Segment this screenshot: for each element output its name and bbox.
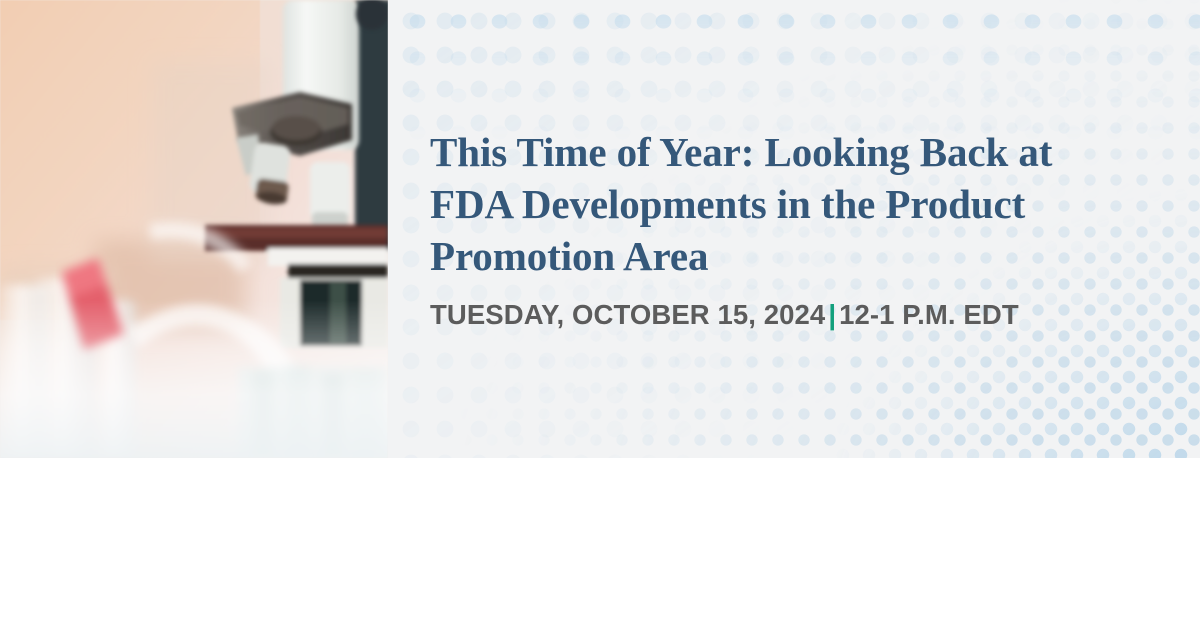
event-details: TUESDAY, OCTOBER 15, 2024|12-1 P.M. EDT (430, 299, 1019, 331)
page-title: This Time of Year: Looking Back at FDA D… (430, 126, 1120, 282)
hero-band: This Time of Year: Looking Back at FDA D… (0, 0, 1200, 458)
footer-bar: Arnall Golden GregoryLLP REGISTER AT: bi… (0, 458, 1200, 628)
laboratory-photo-illustration (0, 0, 388, 458)
webinar-promo-card: This Time of Year: Looking Back at FDA D… (0, 0, 1200, 628)
event-time: 12-1 P.M. EDT (839, 299, 1019, 330)
event-separator: | (825, 299, 839, 330)
hero-text-block: This Time of Year: Looking Back at FDA D… (430, 0, 1150, 458)
hero-image (0, 0, 388, 458)
event-date: TUESDAY, OCTOBER 15, 2024 (430, 299, 825, 330)
